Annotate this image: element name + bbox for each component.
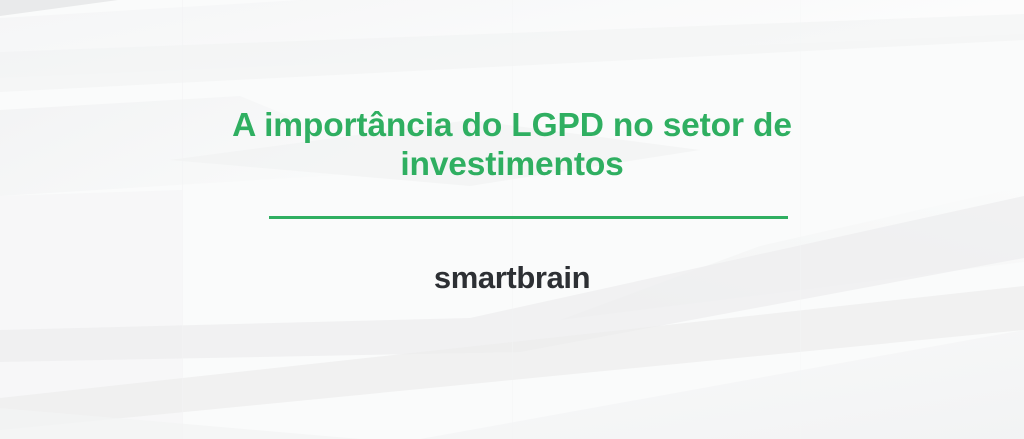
title-divider [269,216,788,219]
slide-canvas: A importância do LGPD no setor de invest… [0,0,1024,439]
page-title: A importância do LGPD no setor de invest… [232,106,792,184]
slide-content: A importância do LGPD no setor de invest… [0,0,1024,439]
brand-logo: smartbrain [434,261,590,295]
